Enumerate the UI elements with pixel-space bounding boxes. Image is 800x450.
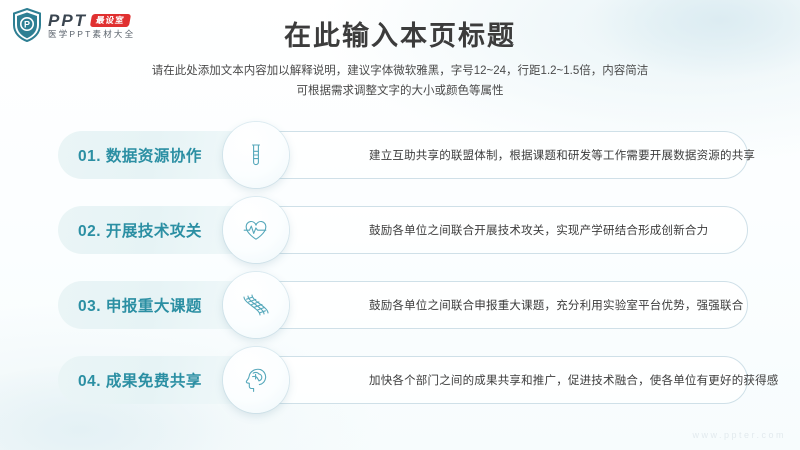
subtitle-line-1: 请在此处添加文本内容加以解释说明，建议字体微软雅黑，字号12~24，行距1.2~…: [0, 62, 800, 82]
row-text-pill[interactable]: 鼓励各单位之间联合申报重大课题，充分利用实验室平台优势，强强联合: [228, 281, 748, 329]
slide-canvas: P PPT 最设室 医学PPT素材大全 在此输入本页标题 请在此处添加文本内容加…: [0, 0, 800, 450]
row-text: 鼓励各单位之间联合申报重大课题，充分利用实验室平台优势，强强联合: [229, 297, 765, 313]
row-icon-badge[interactable]: [223, 347, 289, 413]
heart-pulse-icon: [242, 216, 270, 244]
dna-icon: [242, 291, 270, 319]
page-title: 在此输入本页标题: [0, 14, 800, 53]
row-icon-badge[interactable]: [223, 272, 289, 338]
row-icon-badge[interactable]: [223, 197, 289, 263]
row-text: 建立互助共享的联盟体制，根据课题和研发等工作需要开展数据资源的共享: [229, 147, 777, 163]
test-tube-icon: [243, 142, 269, 168]
brain-head-icon: [242, 366, 270, 394]
page-subtitle: 请在此处添加文本内容加以解释说明，建议字体微软雅黑，字号12~24，行距1.2~…: [0, 62, 800, 101]
row-text: 加快各个部门之间的成果共享和推广，促进技术融合，使各单位有更好的获得感: [229, 372, 800, 388]
content-row[interactable]: 02. 开展技术攻关 鼓励各单位之间联合开展技术攻关，实现产学研结合形成创新合力: [58, 206, 748, 254]
row-text: 鼓励各单位之间联合开展技术攻关，实现产学研结合形成创新合力: [229, 222, 730, 238]
content-row[interactable]: 03. 申报重大课题 鼓励各单位之间联合申报重大课题，充分利用实验室平台优势，强…: [58, 281, 748, 329]
subtitle-line-2: 可根据需求调整文字的大小或颜色等属性: [0, 82, 800, 102]
content-rows: 01. 数据资源协作 建立互助共享的联盟体制，根据课题和研发等工作需要开展数据资…: [58, 131, 748, 404]
row-label: 02. 开展技术攻关: [58, 219, 202, 241]
row-icon-badge[interactable]: [223, 122, 289, 188]
content-row[interactable]: 04. 成果免费共享 加快各个部门之间的成果共享和推广，促进技术融合，使各单位有…: [58, 356, 748, 404]
footer-watermark: www.ppter.com: [692, 430, 786, 440]
row-text-pill[interactable]: 建立互助共享的联盟体制，根据课题和研发等工作需要开展数据资源的共享: [228, 131, 748, 179]
row-text-pill[interactable]: 加快各个部门之间的成果共享和推广，促进技术融合，使各单位有更好的获得感: [228, 356, 748, 404]
row-text-pill[interactable]: 鼓励各单位之间联合开展技术攻关，实现产学研结合形成创新合力: [228, 206, 748, 254]
row-label: 04. 成果免费共享: [58, 369, 202, 391]
content-row[interactable]: 01. 数据资源协作 建立互助共享的联盟体制，根据课题和研发等工作需要开展数据资…: [58, 131, 748, 179]
row-label: 03. 申报重大课题: [58, 294, 202, 316]
row-label: 01. 数据资源协作: [58, 144, 202, 166]
